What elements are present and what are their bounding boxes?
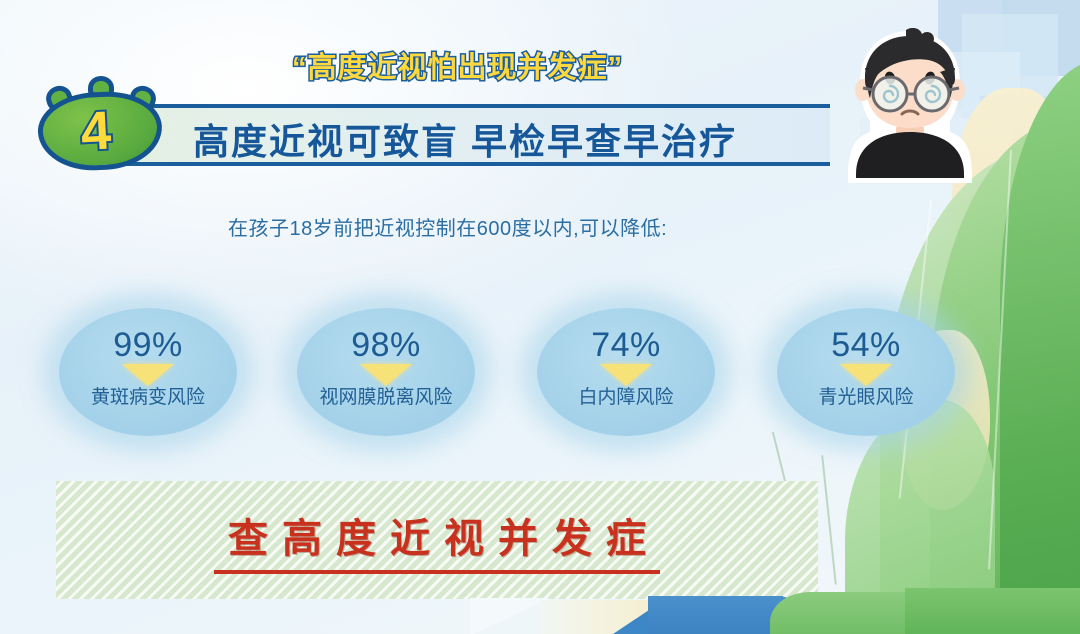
infographic-poster: “高度近视怕出现并发症” 高度近视可致盲 早检早查早治疗 4 bbox=[0, 0, 1080, 634]
plant-stem-shape bbox=[821, 455, 836, 584]
stat-percent: 54% bbox=[831, 328, 901, 362]
foliage-shape bbox=[1000, 60, 1080, 634]
building-block-shape bbox=[962, 14, 1058, 164]
page-title: 高度近视可致盲 早检早查早治疗 bbox=[193, 113, 737, 165]
stat-percent: 74% bbox=[591, 328, 661, 362]
banner-headline: 查高度近视并发症 bbox=[214, 506, 660, 574]
stat-label: 青光眼风险 bbox=[818, 382, 913, 409]
boy-with-glasses-illustration bbox=[846, 28, 974, 186]
down-arrow-icon bbox=[122, 364, 174, 386]
building-block-shape bbox=[1002, 0, 1080, 76]
cream-strip-shape bbox=[540, 600, 670, 634]
stat-bubble: 54% 青光眼风险 bbox=[777, 308, 955, 436]
call-to-action-banner: 查高度近视并发症 bbox=[56, 481, 818, 599]
leaf-vein-shape bbox=[988, 150, 1012, 570]
subtitle-text: 在孩子18岁前把近视控制在600度以内,可以降低: bbox=[228, 212, 667, 241]
stat-bubble: 99% 黄斑病变风险 bbox=[59, 308, 237, 436]
white-wedge-shape bbox=[470, 598, 550, 634]
stat-label: 白内障风险 bbox=[578, 382, 673, 409]
stat-percent: 99% bbox=[113, 328, 183, 362]
down-arrow-icon bbox=[600, 364, 652, 386]
section-number-label: 4 bbox=[24, 89, 168, 174]
blue-slab-shape bbox=[648, 596, 783, 634]
quote-headline: “高度近视怕出现并发症” bbox=[292, 44, 623, 86]
section-number-badge: 4 bbox=[30, 78, 170, 178]
green-hill-shape bbox=[905, 588, 1080, 634]
stat-label: 黄斑病变风险 bbox=[91, 382, 205, 409]
stat-bubble: 98% 视网膜脱离风险 bbox=[297, 308, 475, 436]
stat-label: 视网膜脱离风险 bbox=[319, 382, 452, 409]
building-block-shape bbox=[980, 96, 1080, 256]
stat-percent: 98% bbox=[351, 328, 421, 362]
stat-bubble: 74% 白内障风险 bbox=[537, 308, 715, 436]
blue-triangle-shape bbox=[610, 596, 670, 634]
down-arrow-icon bbox=[360, 364, 412, 386]
down-arrow-icon bbox=[840, 364, 892, 386]
blue-edge-shape bbox=[776, 596, 802, 634]
